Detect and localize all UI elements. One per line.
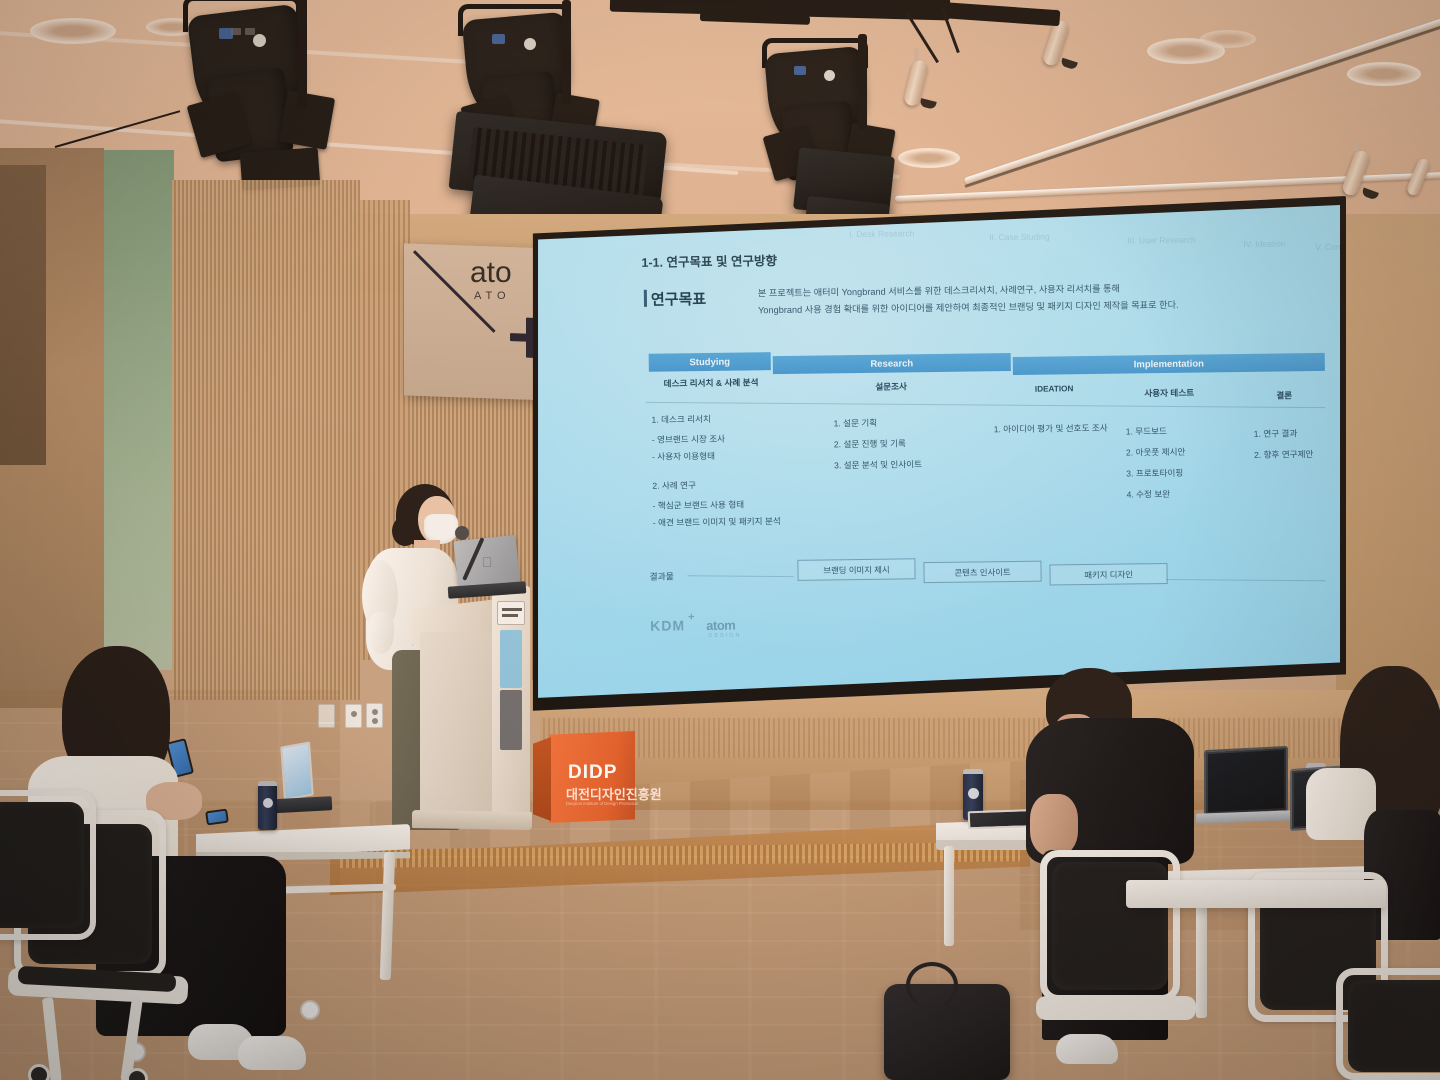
subheader-user-test: 사용자 테스트 <box>1115 386 1223 399</box>
light-knob-icon <box>253 34 266 47</box>
table-cell: 2. 아웃풋 제시안 <box>1126 444 1186 461</box>
result-box: 콘텐츠 인사이트 <box>923 561 1041 584</box>
phase-header-research: Research <box>773 353 1011 374</box>
laptop-center[interactable] <box>1204 746 1288 816</box>
light-knob-icon <box>824 70 835 81</box>
recessed-ceiling-light <box>30 18 116 44</box>
podium-gray-accent <box>500 690 522 750</box>
table-foreground-right <box>1126 880 1386 908</box>
lower-wall-slats <box>540 718 1440 758</box>
slide-body-line-1: 본 프로젝트는 애터미 Yongbrand 서비스를 위한 데스크리서치, 사례… <box>758 282 1120 301</box>
table-cell: 2. 향후 연구제안 <box>1254 446 1314 463</box>
table-cell: - 사용자 이용형태 <box>652 448 715 465</box>
recessed-ceiling-light <box>1200 30 1256 48</box>
podium-base <box>412 810 532 830</box>
slide-nav-item: II. Case Studing <box>989 232 1050 243</box>
table-cell: 1. 무드보드 <box>1126 423 1167 440</box>
kdm-logo: KDM <box>650 617 685 633</box>
result-box: 패키지 디자인 <box>1049 563 1167 586</box>
auditorium-scene: ato ATO Introduction I. Desk Research II… <box>0 0 1440 1080</box>
banner-plus-icon <box>526 318 534 358</box>
table-cell: 1. 연구 결과 <box>1254 425 1298 442</box>
recessed-ceiling-light <box>898 148 960 168</box>
light-knob-icon <box>524 38 536 50</box>
left-wall-mesh <box>172 180 360 700</box>
green-wall-panel <box>102 150 174 670</box>
didp-title: DIDP <box>568 762 617 784</box>
wall-outlet <box>366 703 383 728</box>
section-label: 연구목표 <box>651 288 706 310</box>
subheader-survey: 설문조사 <box>829 380 953 394</box>
table-cell: 3. 설문 분석 및 인사이트 <box>834 456 922 473</box>
subheader-desk-research: 데스크 리서치 & 사례 분석 <box>645 376 777 390</box>
slide-nav-item: III. User Research <box>1127 235 1196 246</box>
slide-nav-item: I. Desk Research <box>849 228 914 239</box>
table-leg <box>1196 898 1207 1018</box>
slide-content: Introduction I. Desk Research II. Case S… <box>534 202 1340 708</box>
atom-logo: atom <box>706 618 735 633</box>
podium-sign <box>497 601 525 625</box>
right-wall-wood <box>1336 214 1440 694</box>
tablet-left[interactable] <box>280 741 313 800</box>
table-cell: - 영브랜드 시장 조사 <box>652 431 725 448</box>
atom-logo-sub: DESIGN <box>708 633 741 639</box>
phase-header-studying: Studying <box>649 352 771 372</box>
slide-subtitle: 1-1. 연구목표 및 연구방향 <box>641 250 777 271</box>
table-cell: 3. 프로토타이핑 <box>1126 465 1183 482</box>
kdm-logo-mark: + <box>688 611 696 623</box>
wall-outlet <box>345 704 362 728</box>
result-row-label: 결과물 <box>649 569 673 582</box>
slide-nav-item: IV. Ideation <box>1243 238 1285 249</box>
audience-left-shoe <box>238 1036 306 1070</box>
phase-header-implementation: Implementation <box>1013 353 1325 375</box>
table-cell: 4. 수정 보완 <box>1126 486 1170 503</box>
table-divider <box>645 402 1325 408</box>
table-cell: 1. 데스크 리서치 <box>651 411 711 428</box>
didp-english: Daejeon Institute of Design Promotion <box>566 801 638 806</box>
table-leg <box>944 846 954 946</box>
laptop-logo-icon:  <box>482 554 493 570</box>
result-row-line <box>688 575 794 577</box>
presenter-sleeve <box>368 612 394 654</box>
subheader-conclusion: 결론 <box>1247 389 1321 402</box>
section-accent-bar <box>644 290 647 307</box>
projection-screen[interactable]: Introduction I. Desk Research II. Case S… <box>534 202 1340 708</box>
microphone-head-icon <box>455 526 469 540</box>
subheader-ideation: IDEATION <box>999 384 1109 394</box>
table-cell: 2. 사례 연구 <box>652 477 696 494</box>
slide-body-line-2: Yongbrand 사용 경험 확대를 위한 아이디어를 제안하여 최종적인 브… <box>758 298 1179 318</box>
banner-brand-label: ato <box>470 256 512 290</box>
table-cell: 1. 설문 기획 <box>833 415 877 432</box>
table-caster <box>300 1000 320 1020</box>
table-cell: - 애견 브랜드 이미지 및 패키지 분석 <box>653 513 781 531</box>
left-wall-dark-column <box>0 165 46 465</box>
didp-sign-side <box>533 737 551 821</box>
result-row-line <box>1166 579 1326 581</box>
result-box: 브랜딩 이미지 제시 <box>797 558 915 581</box>
audience-center-arm <box>1030 794 1078 856</box>
table-cell: 2. 설문 진행 및 기록 <box>834 435 906 452</box>
slide-nav-item: V. Conclusion <box>1315 241 1340 252</box>
podium-blue-accent <box>500 630 522 688</box>
recessed-ceiling-light <box>1347 62 1421 86</box>
backpack-strap <box>906 962 958 1008</box>
banner-sub-label: ATO <box>474 290 511 302</box>
table-cell: 1. 아이디어 평가 및 선호도 조사 <box>994 420 1108 438</box>
table-cell: - 핵심군 브랜드 사용 형태 <box>653 497 745 515</box>
audience-center-shoe <box>1056 1034 1118 1064</box>
beverage-can-left <box>258 784 277 830</box>
